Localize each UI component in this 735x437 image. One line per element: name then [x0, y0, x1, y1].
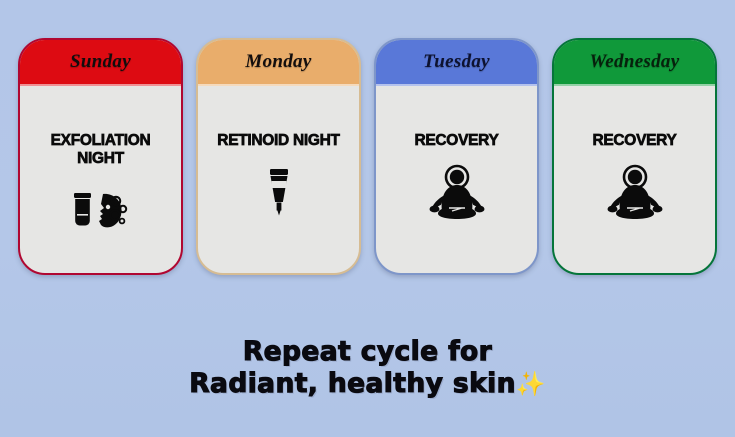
caption-line-2: Radiant, healthy skin — [189, 368, 516, 399]
activity-label: RECOVERY — [592, 132, 676, 150]
day-card-monday[interactable]: Monday RETINOID NIGHT — [196, 38, 361, 275]
card-header-tuesday: Tuesday — [376, 40, 537, 86]
card-body-wednesday: RECOVERY — [554, 86, 715, 273]
caption-line-2-wrap: Radiant, healthy skin✨ — [0, 368, 735, 400]
activity-label: RECOVERY — [414, 132, 498, 150]
day-label: Tuesday — [423, 51, 490, 73]
serum-tube-icon — [259, 162, 299, 224]
activity-label: RETINOID NIGHT — [217, 132, 339, 150]
day-label: Wednesday — [590, 51, 680, 73]
card-header-wednesday: Wednesday — [554, 40, 715, 86]
sparkles-icon: ✨ — [516, 370, 546, 398]
card-body-sunday: EXFOLIATION NIGHT — [20, 86, 181, 273]
day-card-sunday[interactable]: Sunday EXFOLIATION NIGHT — [18, 38, 183, 275]
meditating-person-icon — [425, 162, 489, 224]
card-header-monday: Monday — [198, 40, 359, 86]
day-card-tuesday[interactable]: Tuesday RECOVERY — [374, 38, 539, 275]
activity-label: EXFOLIATION NIGHT — [26, 132, 176, 167]
card-header-sunday: Sunday — [20, 40, 181, 86]
card-body-tuesday: RECOVERY — [376, 86, 537, 273]
day-label: Sunday — [70, 51, 131, 73]
day-card-row: Sunday EXFOLIATION NIGHT — [0, 38, 735, 278]
skincare-routine-poster: Sunday EXFOLIATION NIGHT — [0, 0, 735, 437]
meditating-person-icon — [603, 162, 667, 224]
caption-line-1: Repeat cycle for — [0, 336, 735, 368]
face-scrub-tube-icon — [70, 179, 132, 241]
day-label: Monday — [245, 51, 311, 73]
day-card-wednesday[interactable]: Wednesday RECOVERY — [552, 38, 717, 275]
card-body-monday: RETINOID NIGHT — [198, 86, 359, 273]
caption-block: Repeat cycle for Radiant, healthy skin✨ — [0, 336, 735, 401]
